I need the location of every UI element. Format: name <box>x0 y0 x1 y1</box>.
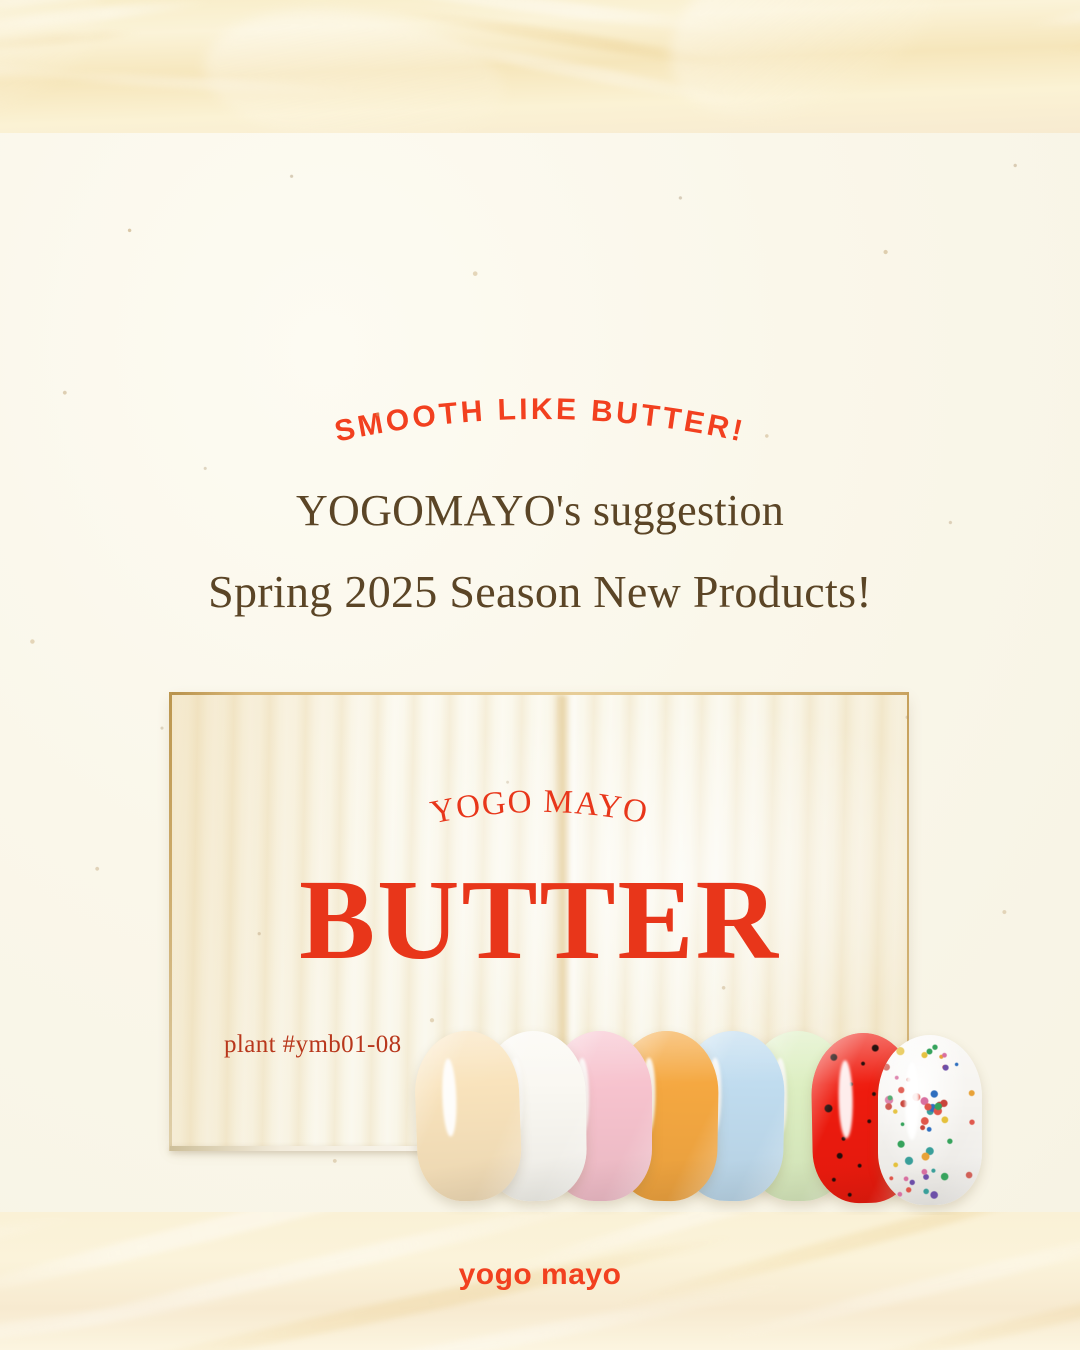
butter-texture-top <box>0 0 1080 136</box>
box-title: BUTTER <box>172 863 907 977</box>
box-edge-top <box>172 692 907 695</box>
arched-banner-svg: SMOOTH LIKE BUTTER! <box>0 365 1080 455</box>
butter-smear <box>646 0 962 136</box>
nail-swatch-cream[interactable] <box>413 1029 523 1203</box>
box-product-code: plant #ymb01-08 <box>224 1031 402 1059</box>
arched-banner: SMOOTH LIKE BUTTER! <box>0 365 1080 455</box>
nail-swatch-confetti[interactable] <box>878 1035 982 1205</box>
nail-swatch-row <box>416 1031 976 1215</box>
butter-ridges-top <box>0 0 1080 136</box>
nail-rim-light <box>878 1035 982 1205</box>
box-brand-wordmark: YOGO MAYO <box>172 779 907 835</box>
box-brand-svg: YOGO MAYO <box>172 779 907 835</box>
arched-banner-text: SMOOTH LIKE BUTTER! <box>332 393 749 449</box>
paper-panel: SMOOTH LIKE BUTTER! YOGOMAYO's suggestio… <box>0 133 1080 1215</box>
footer-logo: yogo mayo <box>0 1258 1080 1292</box>
butter-smear <box>0 0 117 136</box>
butter-ridge <box>1025 0 1080 34</box>
box-brand-text: YOGO MAYO <box>428 784 652 832</box>
headline-line-2: Spring 2025 Season New Products! <box>0 565 1080 618</box>
nail-rim-light <box>413 1029 523 1203</box>
poster-canvas: SMOOTH LIKE BUTTER! YOGOMAYO's suggestio… <box>0 0 1080 1350</box>
nail-gloss-highlight <box>905 1062 919 1140</box>
headline-line-1: YOGOMAYO's suggestion <box>0 485 1080 536</box>
